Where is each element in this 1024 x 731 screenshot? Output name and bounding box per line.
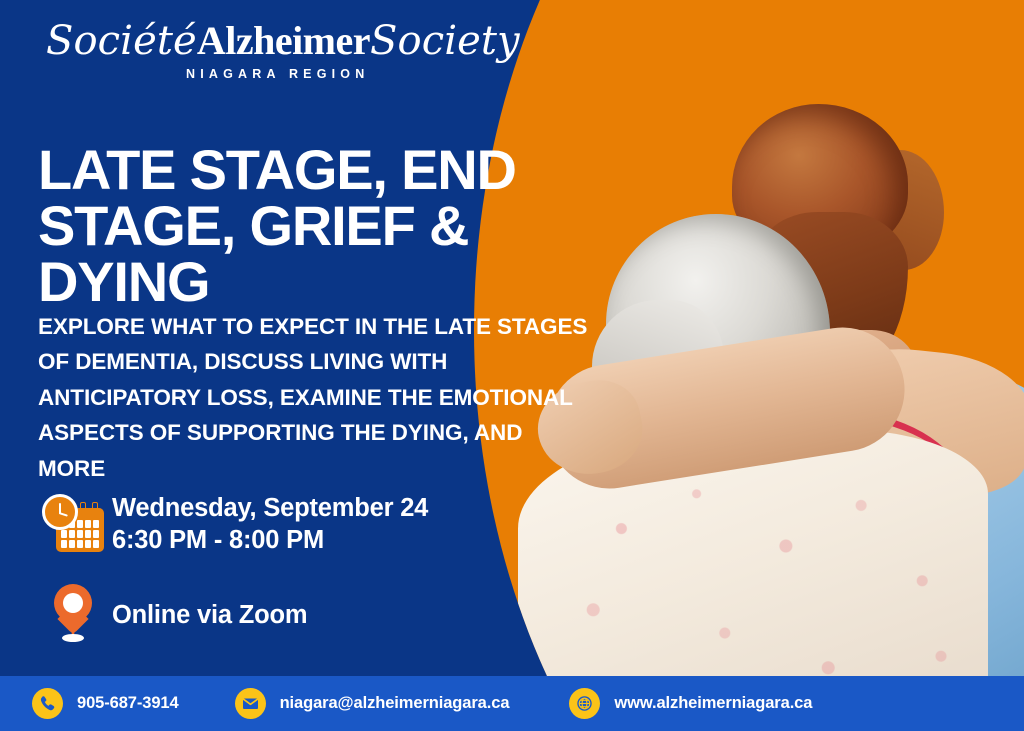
event-location-label: Online via Zoom — [112, 599, 307, 631]
logo-societe-word: Société — [46, 18, 197, 64]
contact-footer: 905-687-3914 niagara@alzheimerniagara.ca — [0, 676, 1024, 731]
website-url: www.alzheimerniagara.ca — [614, 694, 812, 713]
phone-number: 905-687-3914 — [77, 694, 179, 713]
logo-alzheimer-word: Alzheimer — [197, 18, 370, 63]
contact-email[interactable]: niagara@alzheimerniagara.ca — [235, 676, 510, 731]
contact-website[interactable]: www.alzheimerniagara.ca — [569, 676, 812, 731]
globe-icon — [569, 688, 600, 719]
map-pin-icon — [34, 584, 112, 646]
pin-shadow — [62, 634, 84, 642]
envelope-icon — [235, 688, 266, 719]
contact-phone[interactable]: 905-687-3914 — [32, 676, 179, 731]
event-location-row: Online via Zoom — [34, 584, 307, 646]
event-date-row: Wednesday, September 24 6:30 PM - 8:00 P… — [34, 492, 428, 556]
calendar-clock-icon — [34, 494, 112, 554]
phone-icon — [32, 688, 63, 719]
logo-society-word: Society — [370, 18, 520, 64]
event-description: EXPLORE WHAT TO EXPECT IN THE LATE STAGE… — [38, 309, 593, 487]
pin-hole — [63, 593, 83, 613]
email-address: niagara@alzheimerniagara.ca — [280, 694, 510, 713]
organization-logo: SociétéAlzheimerSociety NIAGARA REGION — [46, 18, 520, 81]
clock-icon — [42, 494, 78, 530]
event-date-label: Wednesday, September 24 — [112, 492, 428, 524]
event-time-label: 6:30 PM - 8:00 PM — [112, 524, 428, 556]
page-title: LATE STAGE, END STAGE, GRIEF & DYING — [38, 142, 618, 310]
logo-region-label: NIAGARA REGION — [186, 67, 520, 81]
event-poster: SociétéAlzheimerSociety NIAGARA REGION L… — [0, 0, 1024, 731]
